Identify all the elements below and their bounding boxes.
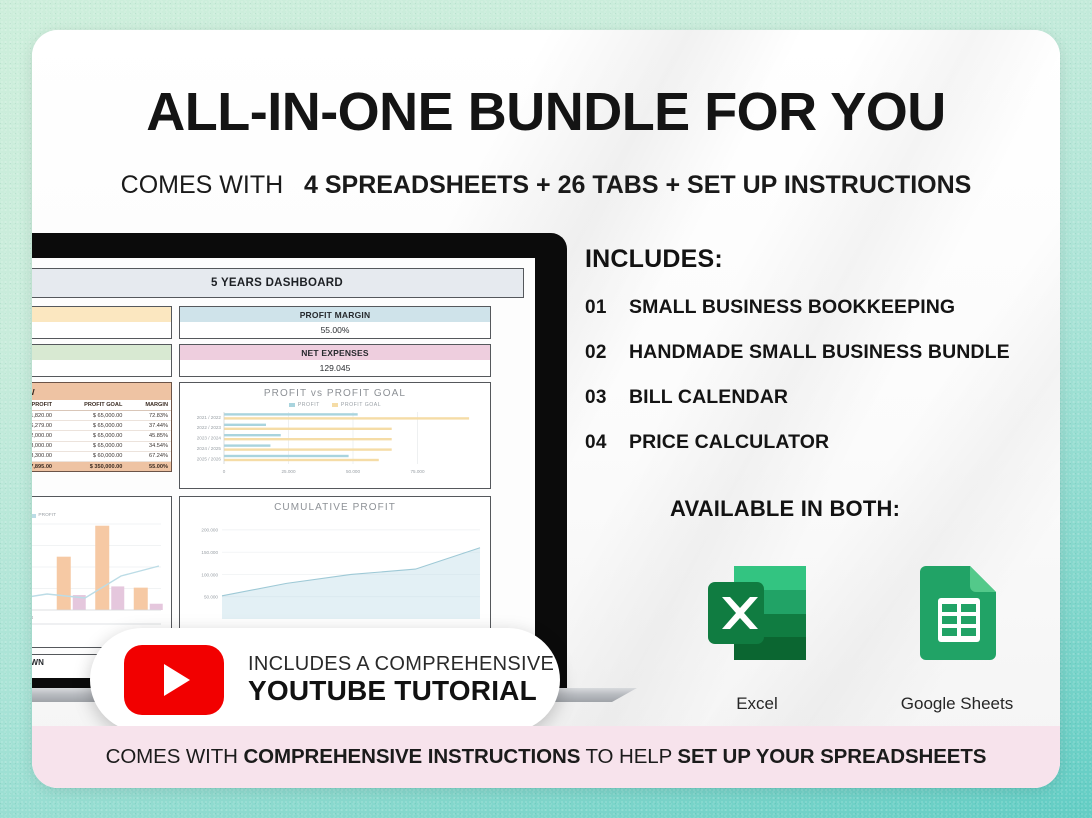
- includes-item-04: 04PRICE CALCULATOR: [585, 431, 1055, 454]
- includes-heading: INCLUDES:: [585, 245, 1055, 274]
- chart-cash-flow: OW ES PROFIT 2024: [32, 496, 172, 648]
- chart-cumulative-profit: CUMULATIVE PROFIT 200.000150.000100.0005…: [179, 496, 491, 648]
- svg-text:150.000: 150.000: [201, 550, 218, 555]
- table-cell: 72.83%: [125, 411, 171, 421]
- footer-banner: COMES WITH COMPREHENSIVE INSTRUCTIONS TO…: [32, 726, 1060, 788]
- table-cell: 51,820.00: [32, 411, 55, 421]
- kpi-value: 5: [32, 322, 171, 338]
- svg-text:2021 / 2022: 2021 / 2022: [197, 415, 222, 420]
- chart-title: CUMULATIVE PROFIT: [180, 497, 490, 513]
- table-cell: $ 350,000.00: [55, 461, 125, 471]
- table-row: 51,820.00$ 65,000.0072.83%: [32, 411, 171, 421]
- overview-table: PROFIT PROFIT GOAL MARGIN 51,820.00$ 65,…: [32, 400, 171, 471]
- svg-text:2023 / 2024: 2023 / 2024: [197, 436, 222, 441]
- kpi-value: 55.00%: [180, 322, 490, 338]
- table-cell: $ 65,000.00: [55, 411, 125, 421]
- col-profit: PROFIT: [32, 400, 55, 411]
- includes-item-label: BILL CALENDAR: [629, 386, 788, 409]
- platform-label: Excel: [736, 694, 778, 714]
- youtube-tutorial-badge[interactable]: INCLUDES A COMPREHENSIVE YOUTUBE TUTORIA…: [90, 628, 560, 732]
- chart-title: OW: [32, 497, 171, 511]
- svg-text:2022 / 2023: 2022 / 2023: [197, 425, 222, 430]
- table-cell: 67.24%: [125, 451, 171, 461]
- col-profit-goal: PROFIT GOAL: [55, 400, 125, 411]
- available-heading: AVAILABLE IN BOTH:: [670, 496, 900, 522]
- includes-list: 01SMALL BUSINESS BOOKKEEPING02HANDMADE S…: [585, 296, 1055, 454]
- kpi-value: 0: [32, 360, 171, 376]
- svg-text:2024: 2024: [32, 615, 34, 620]
- table-cell: 48,300.00: [32, 451, 55, 461]
- table-cell: $ 65,000.00: [55, 441, 125, 451]
- table-cell: 18,000.00: [32, 441, 55, 451]
- google-sheets-icon: [892, 548, 1022, 678]
- table-cell: 22,000.00: [32, 431, 55, 441]
- chart-profit-vs-goal: PROFIT vs PROFIT GOAL PROFIT PROFIT GOAL…: [179, 382, 491, 489]
- overview-header: RVIEW: [32, 383, 171, 400]
- footer-prefix: COMES WITH: [106, 745, 244, 768]
- svg-text:200.000: 200.000: [201, 528, 218, 533]
- platform-label: Google Sheets: [901, 694, 1013, 714]
- svg-text:100.000: 100.000: [201, 572, 218, 577]
- table-row: 18,000.00$ 65,000.0034.54%: [32, 441, 171, 451]
- table-header-row: PROFIT PROFIT GOAL MARGIN: [32, 400, 171, 411]
- col-margin: MARGIN: [125, 400, 171, 411]
- table-total-row: 157,895.00$ 350,000.0055.00%: [32, 461, 171, 471]
- excel-icon: [692, 548, 822, 678]
- table-cell: $ 65,000.00: [55, 431, 125, 441]
- table-row: 22,000.00$ 65,000.0045.85%: [32, 431, 171, 441]
- svg-text:0: 0: [223, 469, 226, 474]
- platform-google-sheets: Google Sheets: [892, 548, 1022, 714]
- table-cell: 55.00%: [125, 461, 171, 471]
- footer-bold2: SET UP YOUR SPREADSHEETS: [677, 745, 986, 768]
- footer-middle: TO HELP: [580, 745, 677, 768]
- dashboard-title: 5 YEARS DASHBOARD: [32, 268, 524, 298]
- table-cell: 34.54%: [125, 441, 171, 451]
- svg-text:2025 / 2026: 2025 / 2026: [197, 456, 222, 461]
- includes-item-label: HANDMADE SMALL BUSINESS BUNDLE: [629, 341, 1010, 364]
- svg-text:2024 / 2025: 2024 / 2025: [197, 446, 222, 451]
- subtitle: COMES WITH 4 SPREADSHEETS + 26 TABS + SE…: [32, 173, 1060, 198]
- platform-excel: Excel: [692, 548, 822, 714]
- youtube-badge-line1: INCLUDES A COMPREHENSIVE: [248, 653, 554, 676]
- footer-bold1: COMPREHENSIVE INSTRUCTIONS: [243, 745, 580, 768]
- svg-text:75.000: 75.000: [410, 469, 424, 474]
- table-row: 48,300.00$ 60,000.0067.24%: [32, 451, 171, 461]
- svg-text:25.000: 25.000: [281, 469, 295, 474]
- chart-plot-area: 2024: [32, 518, 169, 632]
- includes-item-label: SMALL BUSINESS BOOKKEEPING: [629, 296, 955, 319]
- includes-item-number: 02: [585, 342, 629, 364]
- kpi-card-net-expenses: NET EXPENSES 129.045: [179, 344, 491, 377]
- svg-text:50.000: 50.000: [204, 595, 218, 600]
- overview-panel: RVIEW PROFIT PROFIT GOAL MARGIN 51,820.0…: [32, 382, 172, 472]
- includes-section: INCLUDES: 01SMALL BUSINESS BOOKKEEPING02…: [585, 245, 1055, 454]
- table-cell: 37.44%: [125, 421, 171, 431]
- promo-card: ALL-IN-ONE BUNDLE FOR YOU COMES WITH 4 S…: [32, 30, 1060, 788]
- subtitle-highlight: 4 SPREADSHEETS + 26 TABS + SET UP INSTRU…: [304, 171, 971, 199]
- includes-item-label: PRICE CALCULATOR: [629, 431, 829, 454]
- kpi-card-loss: LOSS 5: [32, 306, 172, 339]
- kpi-card-profit-margin: PROFIT MARGIN 55.00%: [179, 306, 491, 339]
- kpi-label: LOSS: [32, 307, 171, 322]
- svg-text:50.000: 50.000: [346, 469, 360, 474]
- youtube-badge-line2: YOUTUBE TUTORIAL: [248, 676, 554, 707]
- table-cell: 16,279.00: [32, 421, 55, 431]
- includes-item-02: 02HANDMADE SMALL BUSINESS BUNDLE: [585, 341, 1055, 364]
- table-cell: $ 65,000.00: [55, 421, 125, 431]
- kpi-label: ME: [32, 345, 171, 360]
- includes-item-number: 03: [585, 387, 629, 409]
- platform-logos: Excel Google Sheets: [692, 548, 1022, 714]
- table-cell: 157,895.00: [32, 461, 55, 471]
- laptop-screen: 5 YEARS DASHBOARD LOSS 5 ME 0 PROFIT MAR…: [32, 258, 535, 678]
- includes-item-03: 03BILL CALENDAR: [585, 386, 1055, 409]
- includes-item-01: 01SMALL BUSINESS BOOKKEEPING: [585, 296, 1055, 319]
- kpi-card-income: ME 0: [32, 344, 172, 377]
- includes-item-number: 04: [585, 432, 629, 454]
- youtube-play-icon: [124, 645, 224, 715]
- includes-item-number: 01: [585, 297, 629, 319]
- kpi-label: NET EXPENSES: [180, 345, 490, 360]
- table-cell: 45.85%: [125, 431, 171, 441]
- chart-plot-area: 200.000150.000100.00050.000: [180, 513, 488, 639]
- table-row: 16,279.00$ 65,000.0037.44%: [32, 421, 171, 431]
- page-title: ALL-IN-ONE BUNDLE FOR YOU: [32, 85, 1060, 139]
- subtitle-prefix: COMES WITH: [121, 171, 284, 199]
- kpi-label: PROFIT MARGIN: [180, 307, 490, 322]
- chart-title: PROFIT vs PROFIT GOAL: [180, 383, 490, 399]
- table-cell: $ 60,000.00: [55, 451, 125, 461]
- chart-plot-area: 025.00050.00075.0002021 / 20222022 / 202…: [180, 408, 488, 478]
- footer-text: COMES WITH COMPREHENSIVE INSTRUCTIONS TO…: [106, 745, 987, 769]
- kpi-value: 129.045: [180, 360, 490, 376]
